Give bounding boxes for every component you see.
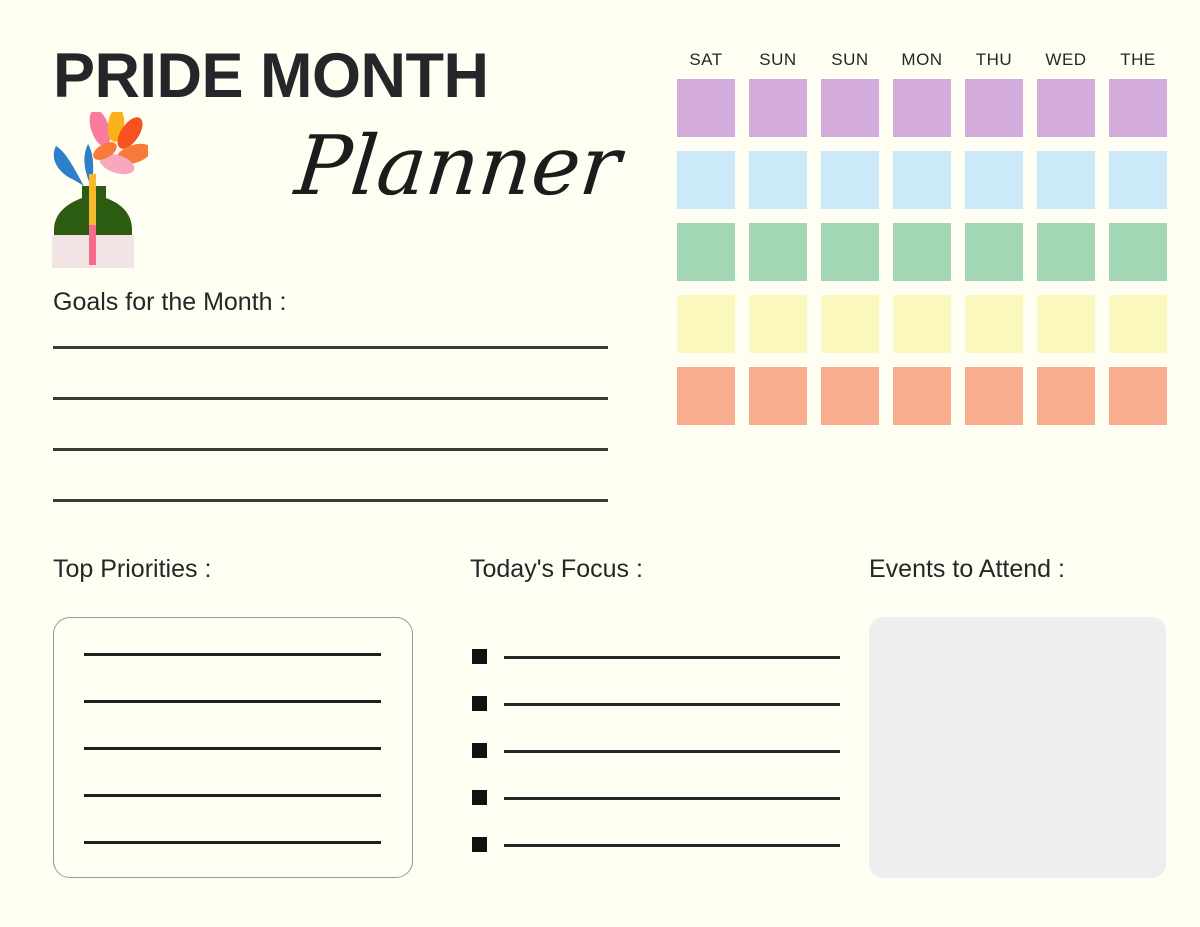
square-bullet-icon [472,790,487,805]
calendar-day-cell[interactable] [677,367,735,425]
calendar-day-cell[interactable] [821,79,879,137]
calendar-day-header: THU [965,50,1023,70]
top-priorities-label: Top Priorities : [53,555,211,584]
calendar-day-cell[interactable] [821,223,879,281]
calendar-day-cell[interactable] [965,295,1023,353]
goals-label: Goals for the Month : [53,288,286,317]
calendar-day-cell[interactable] [821,151,879,209]
calendar-day-header: WED [1037,50,1095,70]
calendar-day-cell[interactable] [893,223,951,281]
calendar-grid: SAT SUN SUN MON THU WED THE [677,50,1181,439]
goals-write-line[interactable] [53,499,608,502]
calendar-day-cell[interactable] [893,79,951,137]
top-priorities-write-line[interactable] [84,747,381,750]
calendar-day-cell[interactable] [1037,295,1095,353]
calendar-day-header: MON [893,50,951,70]
goals-write-line[interactable] [53,346,608,349]
events-to-attend-box[interactable] [869,617,1166,878]
calendar-week-row [677,223,1181,281]
calendar-week-row [677,79,1181,137]
planner-page: PRIDE MONTH Planner Goals for the Month … [0,0,1200,927]
calendar-day-cell[interactable] [677,295,735,353]
calendar-day-cell[interactable] [1037,367,1095,425]
calendar-day-cell[interactable] [1109,223,1167,281]
goals-write-line[interactable] [53,448,608,451]
todays-focus-write-line[interactable] [504,797,840,800]
calendar-day-cell[interactable] [1109,151,1167,209]
top-priorities-write-line[interactable] [84,841,381,844]
calendar-day-cell[interactable] [965,151,1023,209]
calendar-day-cell[interactable] [1037,223,1095,281]
square-bullet-icon [472,649,487,664]
calendar-day-cell[interactable] [677,223,735,281]
calendar-body [677,79,1181,425]
calendar-day-cell[interactable] [1109,79,1167,137]
top-priorities-write-line[interactable] [84,794,381,797]
top-priorities-write-line[interactable] [84,653,381,656]
calendar-day-cell[interactable] [893,367,951,425]
calendar-day-cell[interactable] [965,223,1023,281]
calendar-day-cell[interactable] [965,367,1023,425]
calendar-day-cell[interactable] [749,223,807,281]
calendar-day-header: THE [1109,50,1167,70]
calendar-day-header: SAT [677,50,735,70]
calendar-day-cell[interactable] [821,367,879,425]
calendar-day-cell[interactable] [749,295,807,353]
goals-write-line[interactable] [53,397,608,400]
events-to-attend-label: Events to Attend : [869,555,1065,584]
calendar-day-cell[interactable] [749,151,807,209]
calendar-day-cell[interactable] [893,151,951,209]
calendar-day-cell[interactable] [1109,367,1167,425]
calendar-week-row [677,367,1181,425]
calendar-day-cell[interactable] [677,79,735,137]
calendar-day-cell[interactable] [749,79,807,137]
flower-vase-illustration [44,112,148,268]
calendar-header-row: SAT SUN SUN MON THU WED THE [677,50,1181,70]
square-bullet-icon [472,743,487,758]
top-priorities-write-line[interactable] [84,700,381,703]
calendar-day-cell[interactable] [1037,151,1095,209]
square-bullet-icon [472,837,487,852]
page-subtitle-script: Planner [292,126,624,208]
square-bullet-icon [472,696,487,711]
calendar-day-header: SUN [821,50,879,70]
calendar-week-row [677,295,1181,353]
calendar-day-cell[interactable] [749,367,807,425]
calendar-day-cell[interactable] [893,295,951,353]
calendar-day-cell[interactable] [1109,295,1167,353]
calendar-day-cell[interactable] [677,151,735,209]
todays-focus-write-line[interactable] [504,844,840,847]
calendar-day-cell[interactable] [821,295,879,353]
calendar-day-cell[interactable] [1037,79,1095,137]
calendar-week-row [677,151,1181,209]
todays-focus-write-line[interactable] [504,703,840,706]
todays-focus-write-line[interactable] [504,750,840,753]
todays-focus-label: Today's Focus : [470,555,643,584]
todays-focus-write-line[interactable] [504,656,840,659]
calendar-day-header: SUN [749,50,807,70]
calendar-day-cell[interactable] [965,79,1023,137]
page-title: PRIDE MONTH [53,45,489,108]
